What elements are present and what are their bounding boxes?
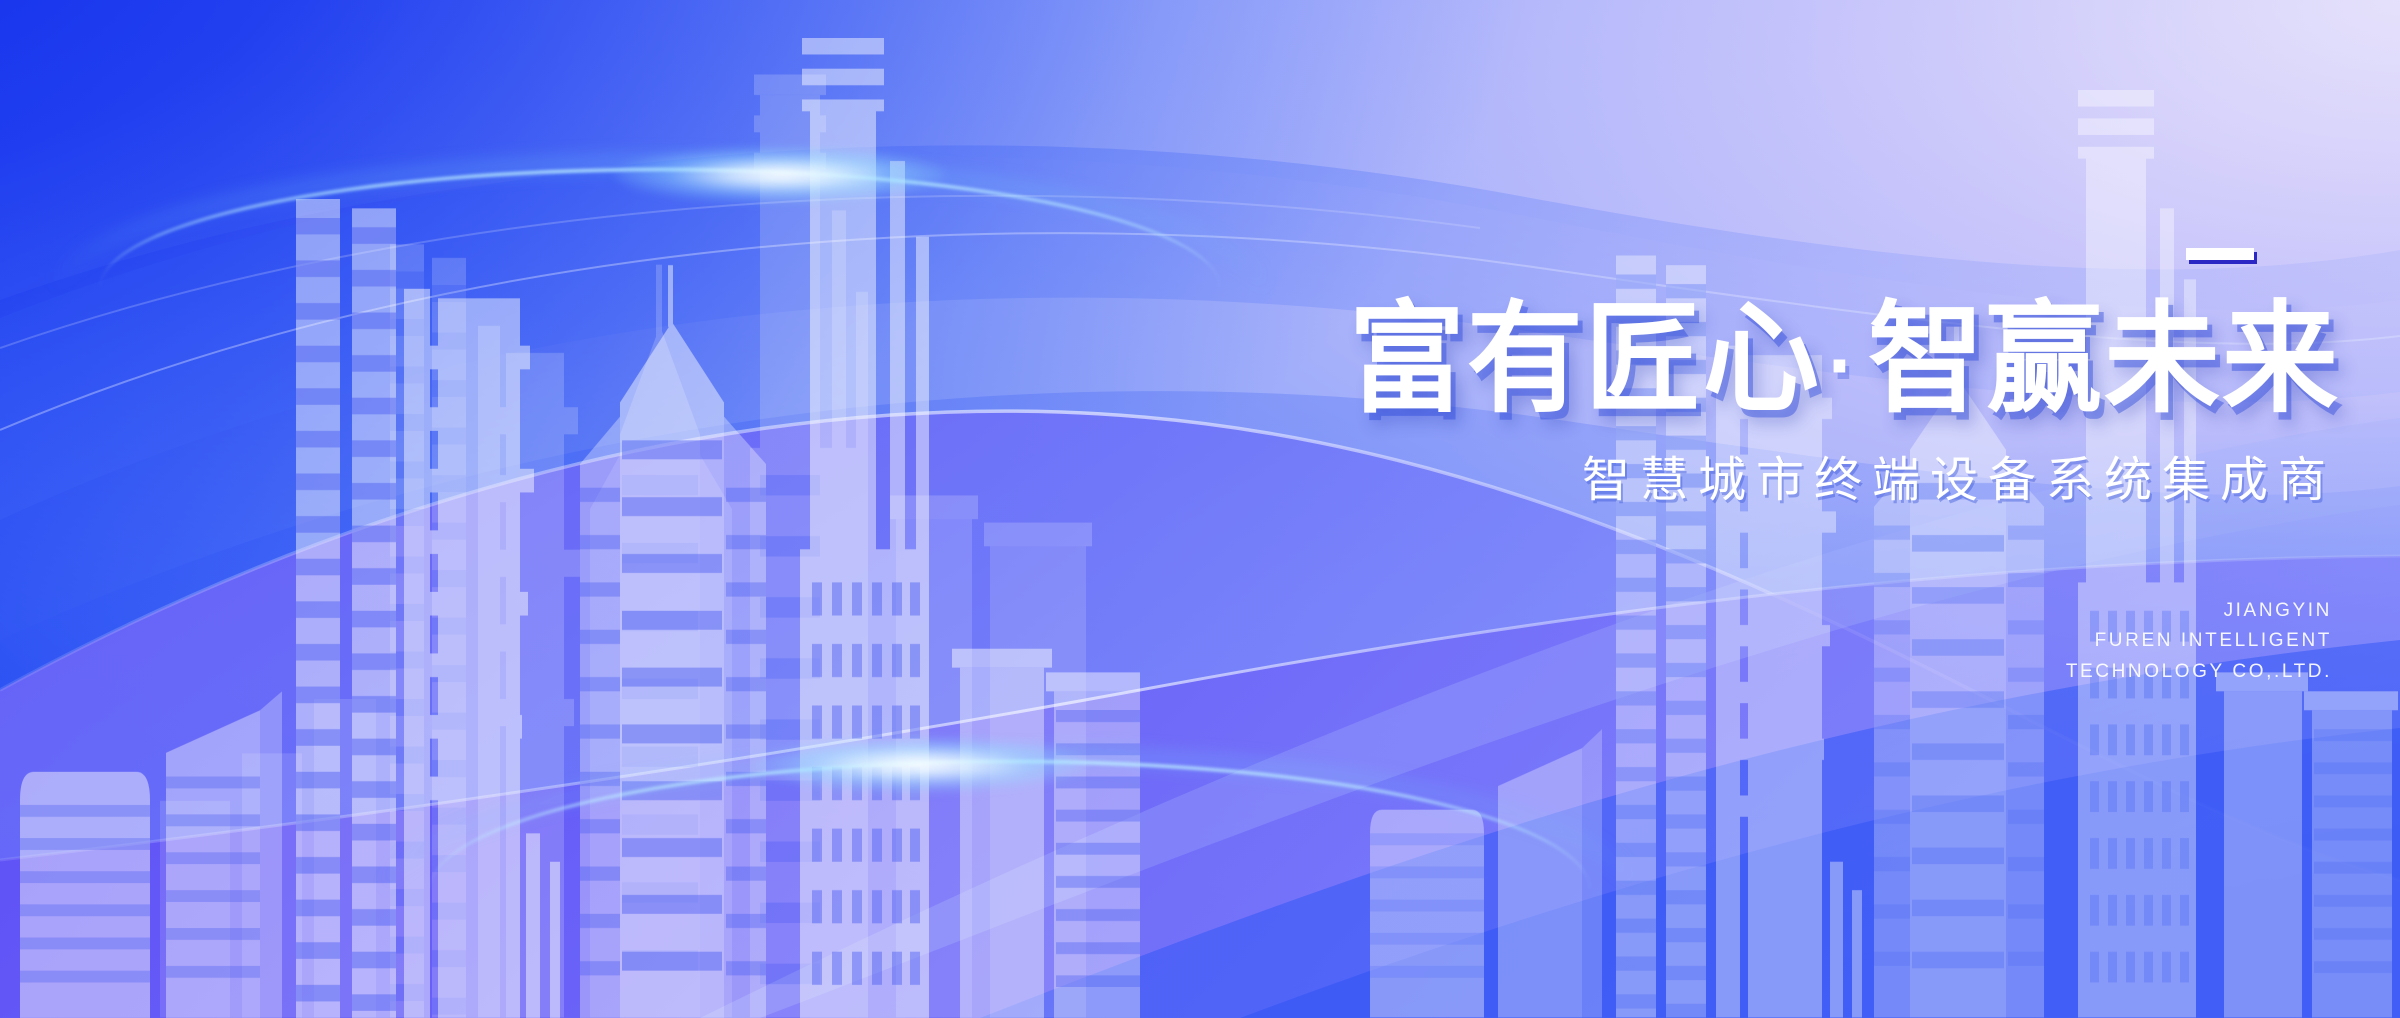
banner-text-block: 富有匠心·智赢未来 智慧城市终端设备系统集成商 JIANGYIN FUREN I…: [1040, 248, 2340, 688]
cityscape-bottom-left: [0, 0, 1140, 1018]
headline-separator-dot: ·: [1821, 327, 1868, 407]
company-line-name: FUREN INTELLIGENT: [1040, 626, 2332, 657]
page-subtitle: 智慧城市终端设备系统集成商: [1040, 452, 2340, 510]
promotional-banner: 富有匠心·智赢未来 智慧城市终端设备系统集成商 JIANGYIN FUREN I…: [0, 0, 2400, 1018]
company-line-city: JIANGYIN: [1040, 596, 2332, 627]
page-title: 富有匠心·智赢未来: [1040, 297, 2340, 425]
title-accent-dash: [2186, 248, 2254, 260]
headline-part-one: 富有匠心: [1349, 289, 1821, 429]
company-line-suffix: TECHNOLOGY CO,.LTD.: [1040, 657, 2332, 688]
headline-part-two: 智赢未来: [1868, 289, 2340, 429]
company-name-english: JIANGYIN FUREN INTELLIGENT TECHNOLOGY CO…: [1040, 596, 2340, 688]
